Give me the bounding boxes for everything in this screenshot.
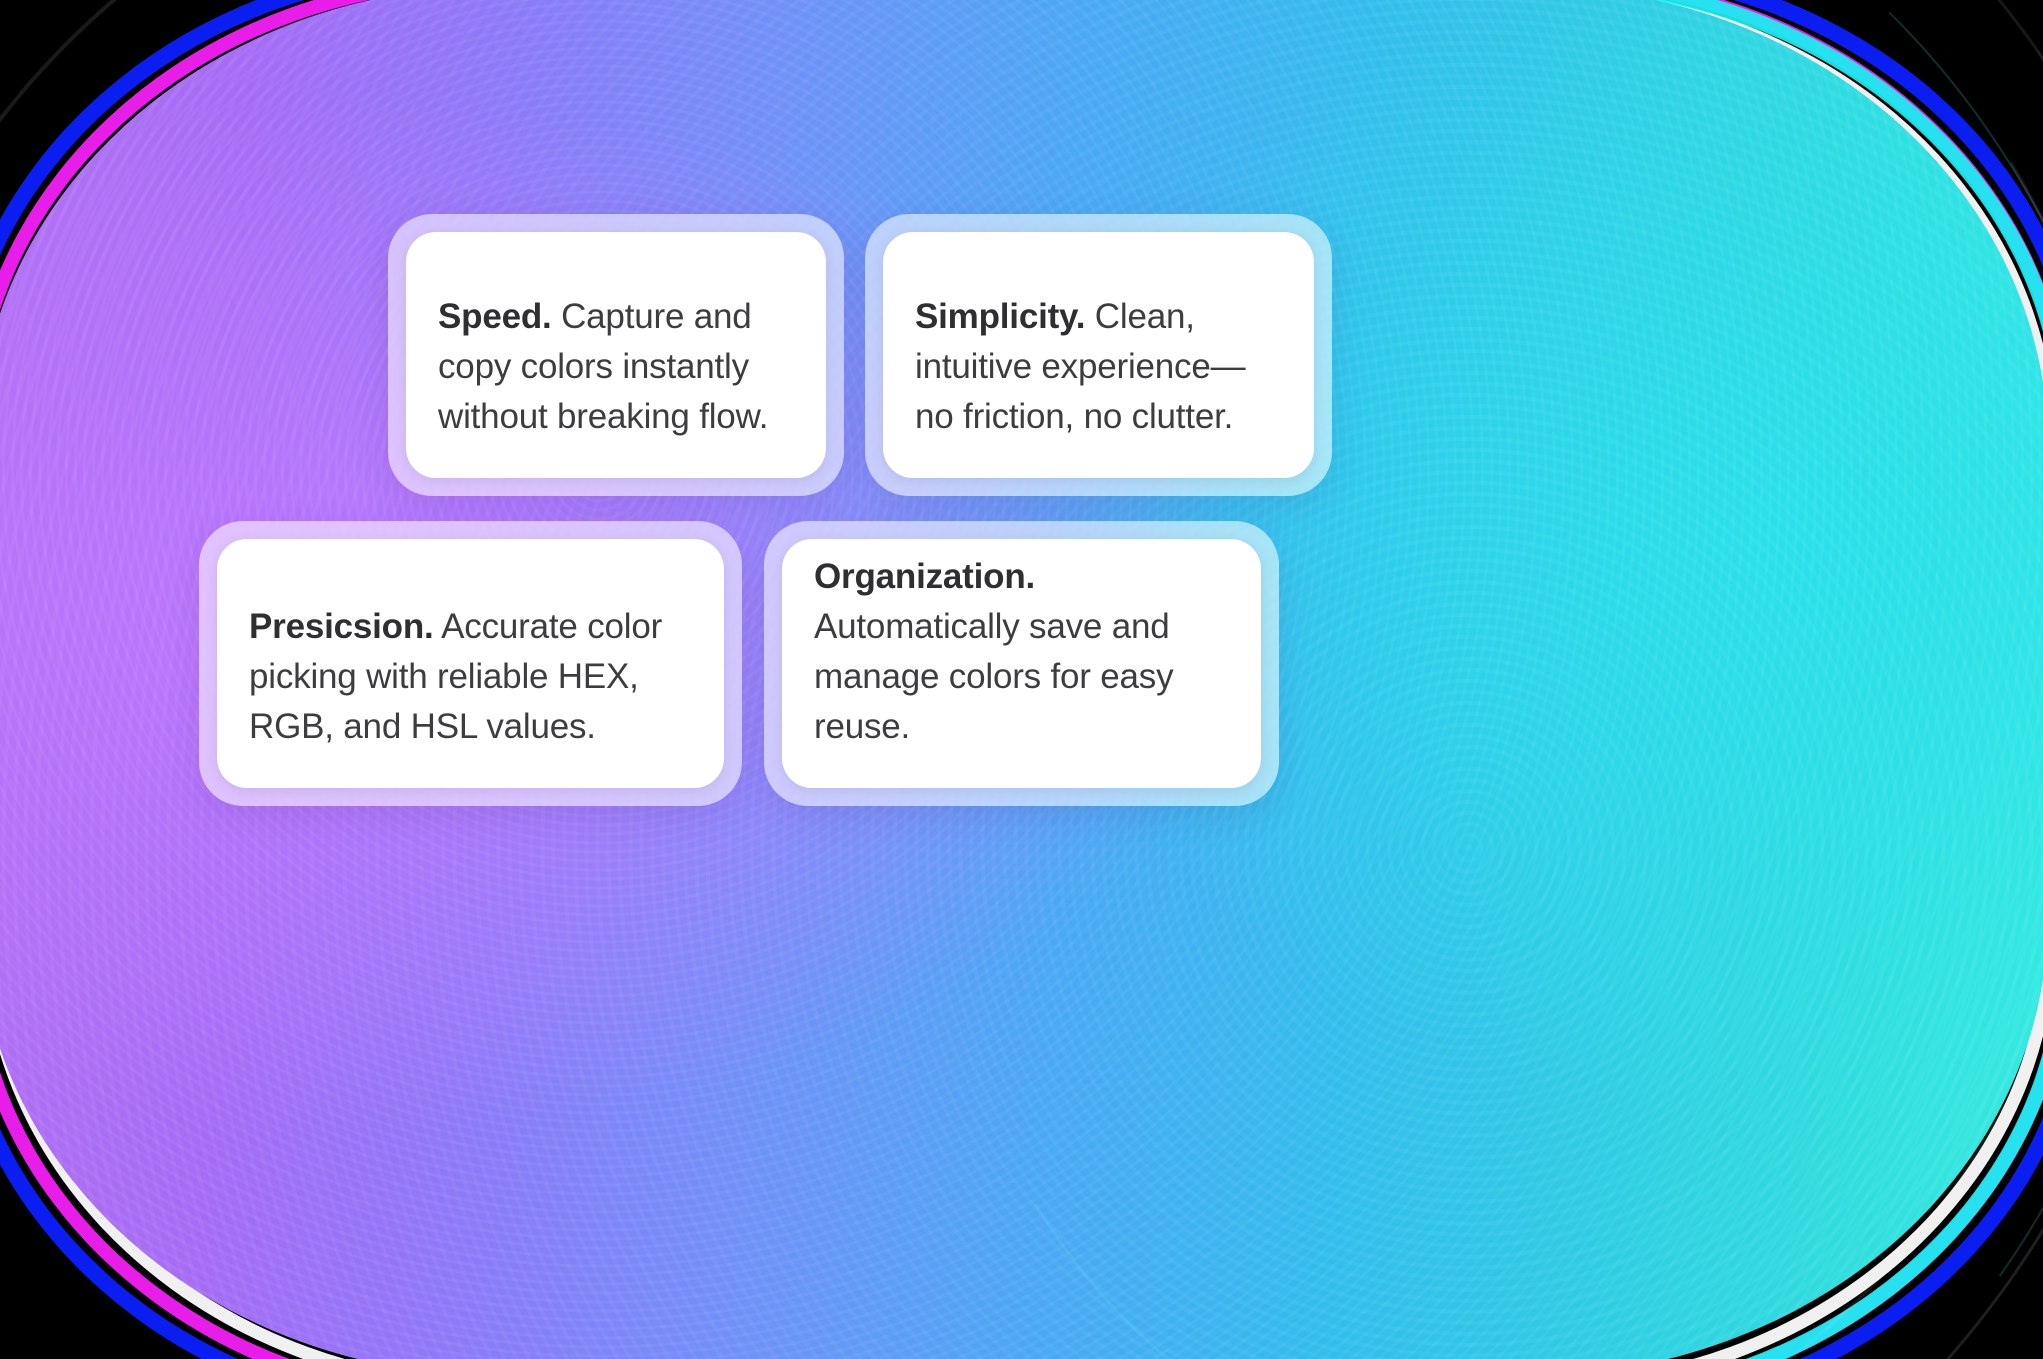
card-text-organization: Organization. Automatically save and man…	[782, 552, 1261, 788]
card-body-organization: Automatically save and manage colors for…	[814, 607, 1173, 746]
card-text-simplicity: Simplicity. Clean, intuitive experience—…	[883, 292, 1314, 478]
card-text-speed: Speed. Capture and copy colors instantly…	[406, 292, 826, 478]
card-lead-presicsion: Presicsion.	[249, 607, 434, 646]
card-text-presicsion: Presicsion. Accurate color picking with …	[217, 602, 724, 788]
card-surface: Speed. Capture and copy colors instantly…	[406, 232, 826, 478]
feature-card-presicsion[interactable]: Presicsion. Accurate color picking with …	[199, 521, 742, 806]
card-lead-speed: Speed.	[438, 297, 552, 336]
feature-card-speed[interactable]: Speed. Capture and copy colors instantly…	[388, 214, 844, 496]
card-lead-organization: Organization.	[814, 557, 1035, 596]
screenshot-root: Speed. Capture and copy colors instantly…	[0, 0, 2043, 1359]
card-lead-simplicity: Simplicity.	[915, 297, 1085, 336]
feature-card-organization[interactable]: Organization. Automatically save and man…	[764, 521, 1279, 806]
card-surface: Organization. Automatically save and man…	[782, 539, 1261, 788]
feature-card-simplicity[interactable]: Simplicity. Clean, intuitive experience—…	[865, 214, 1332, 496]
card-surface: Simplicity. Clean, intuitive experience—…	[883, 232, 1314, 478]
card-surface: Presicsion. Accurate color picking with …	[217, 539, 724, 788]
